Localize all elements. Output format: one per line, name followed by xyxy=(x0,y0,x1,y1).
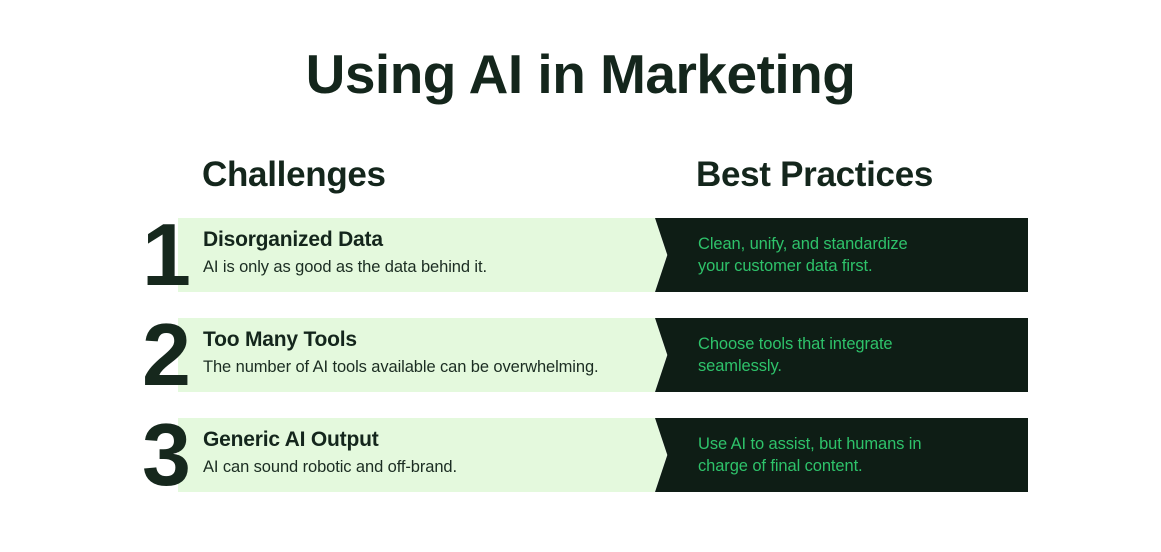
challenge-title: Disorganized Data xyxy=(203,228,653,253)
content-row: 3 Generic AI Output AI can sound robotic… xyxy=(0,418,1161,492)
practice-text-block: Use AI to assist, but humans in charge o… xyxy=(698,434,1018,478)
infographic-canvas: Using AI in Marketing Challenges Best Pr… xyxy=(0,0,1161,552)
content-row: 1 Disorganized Data AI is only as good a… xyxy=(0,218,1161,292)
challenge-text-block: Disorganized Data AI is only as good as … xyxy=(203,228,653,278)
row-number: 2 xyxy=(134,298,196,412)
page-title: Using AI in Marketing xyxy=(0,46,1161,104)
practice-text-block: Clean, unify, and standardize your custo… xyxy=(698,234,1018,278)
column-header-challenges: Challenges xyxy=(202,157,386,192)
practice-line: Use AI to assist, but humans in xyxy=(698,434,1018,456)
practice-line: charge of final content. xyxy=(698,456,1018,478)
column-header-best-practices: Best Practices xyxy=(696,157,933,192)
challenge-description: AI is only as good as the data behind it… xyxy=(203,256,653,278)
content-row: 2 Too Many Tools The number of AI tools … xyxy=(0,318,1161,392)
challenge-text-block: Generic AI Output AI can sound robotic a… xyxy=(203,428,653,478)
practice-line: Clean, unify, and standardize xyxy=(698,234,1018,256)
challenge-title: Generic AI Output xyxy=(203,428,653,453)
practice-line: seamlessly. xyxy=(698,356,1018,378)
challenge-description: AI can sound robotic and off-brand. xyxy=(203,456,653,478)
row-number: 3 xyxy=(134,398,196,512)
challenge-text-block: Too Many Tools The number of AI tools av… xyxy=(203,328,653,378)
challenge-description: The number of AI tools available can be … xyxy=(203,356,653,378)
practice-text-block: Choose tools that integrate seamlessly. xyxy=(698,334,1018,378)
practice-line: Choose tools that integrate xyxy=(698,334,1018,356)
challenge-title: Too Many Tools xyxy=(203,328,653,353)
row-number: 1 xyxy=(134,198,196,312)
practice-line: your customer data first. xyxy=(698,256,1018,278)
